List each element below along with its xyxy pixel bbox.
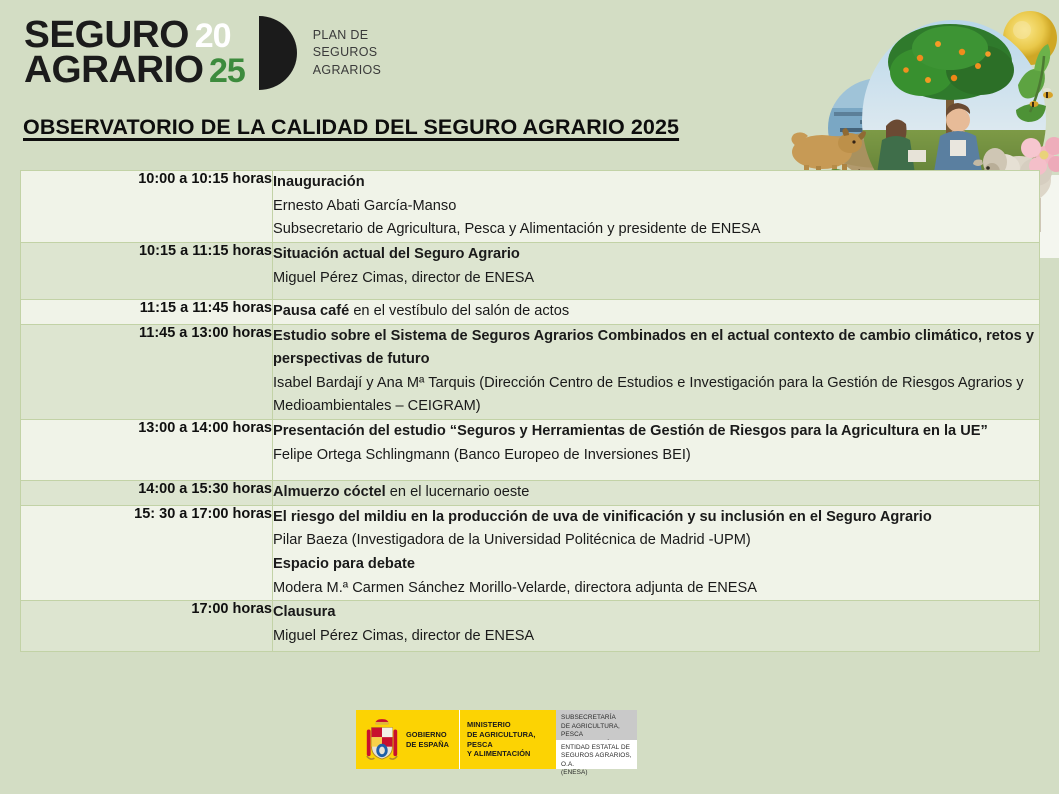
agenda-line-speaker: Miguel Pérez Cimas, director de ENESA [273,267,1039,291]
agenda-time: 13:00 a 14:00 horas [21,420,273,481]
bee-photo [1030,88,1054,107]
agenda-line-speaker: Felipe Ortega Schlingmann (Banco Europeo… [273,444,1039,468]
page-title: OBSERVATORIO DE LA CALIDAD DEL SEGURO AG… [23,115,679,140]
gobierno-line-1: GOBIERNO [406,730,449,740]
enesa-block: SUBSECRETARÍA DE AGRICULTURA, PESCA Y AL… [556,710,637,769]
agenda-line-title: Estudio sobre el Sistema de Seguros Agra… [273,325,1039,372]
agenda-line-speaker: Ernesto Abati García-Manso [273,195,1039,219]
government-footer-logo: GOBIERNO DE ESPAÑA MINISTERIO DE AGRICUL… [356,710,637,769]
table-row: 10:00 a 10:15 horas Inauguración Ernesto… [21,171,1040,243]
brand-line-2: AGRARIO 25 [24,53,245,88]
agenda-line-speaker: Pilar Baeza (Investigadora de la Univers… [273,529,1039,553]
spain-coat-of-arms-icon [363,716,401,764]
ministerio-line-3: Y ALIMENTACIÓN [467,749,556,759]
gobierno-label: GOBIERNO DE ESPAÑA [406,730,449,750]
table-row: 11:15 a 11:45 horas Pausa café en el ves… [21,299,1040,324]
agenda-line-title: El riesgo del mildiu en la producción de… [273,506,1039,530]
agenda-line-title: Situación actual del Seguro Agrario [273,243,1039,267]
agenda-time: 17:00 horas [21,601,273,652]
agenda-line-subtitle: Espacio para debate [273,553,1039,577]
ministerio-block: MINISTERIO DE AGRICULTURA, PESCA Y ALIME… [459,710,556,769]
agenda-line-moderator: Modera M.ª Carmen Sánchez Morillo-Velard… [273,577,1039,601]
brand-year-20: 20 [195,21,231,52]
vine-leaf-photo [1016,44,1050,122]
agenda-time: 11:15 a 11:45 horas [21,299,273,324]
entidad-line-3: (ENESA) [561,769,633,778]
agenda-line-title: Inauguración [273,171,1039,195]
entidad-line-1: ENTIDAD ESTATAL DE [561,744,633,753]
agenda-time: 10:15 a 11:15 horas [21,242,273,299]
agenda-content: Almuerzo cóctel en el lucernario oeste [273,481,1040,506]
agenda-content: El riesgo del mildiu en la producción de… [273,505,1040,601]
agenda-content: Clausura Miguel Pérez Cimas, director de… [273,601,1040,652]
brand-word-seguro: SEGURO [24,18,189,53]
brand-year-25: 25 [209,56,245,87]
subsecretaria-line-2: DE AGRICULTURA, PESCA [561,723,633,740]
brand-plan-text: PLAN DE SEGUROS AGRARIOS [313,27,381,79]
brand-logo: SEGURO 20 AGRARIO 25 PLAN DE SEGUROS AGR… [24,14,381,92]
agenda-table: 10:00 a 10:15 horas Inauguración Ernesto… [20,170,1040,652]
agenda-content: Pausa café en el vestíbulo del salón de … [273,299,1040,324]
gobierno-line-2: DE ESPAÑA [406,740,449,750]
ministerio-line-2: DE AGRICULTURA, PESCA [467,730,556,750]
table-row: 13:00 a 14:00 horas Presentación del est… [21,420,1040,481]
brand-plan-line-1: PLAN DE [313,27,381,44]
subsecretaria-block: SUBSECRETARÍA DE AGRICULTURA, PESCA Y AL… [556,710,637,740]
table-row: 14:00 a 15:30 horas Almuerzo cóctel en e… [21,481,1040,506]
table-row: 11:45 a 13:00 horas Estudio sobre el Sis… [21,324,1040,420]
brand-word-agrario: AGRARIO [24,53,203,88]
entidad-line-2: SEGUROS AGRARIOS, O.A. [561,752,633,769]
agenda-table-body: 10:00 a 10:15 horas Inauguración Ernesto… [21,171,1040,652]
orange-tree-photo [888,24,1014,100]
agenda-content: Inauguración Ernesto Abati García-Manso … [273,171,1040,243]
brand-wordmark: SEGURO 20 AGRARIO 25 [24,18,245,88]
pollen-circle-photo [1003,11,1057,65]
ministerio-line-1: MINISTERIO [467,720,556,730]
agenda-line-speaker: Isabel Bardají y Ana Mª Tarquis (Direcci… [273,372,1039,419]
agenda-line-rest: en el vestíbulo del salón de actos [349,303,569,319]
gobierno-de-espana-block: GOBIERNO DE ESPAÑA [356,710,459,769]
brand-plan-line-3: AGRARIOS [313,62,381,79]
agenda-time: 10:00 a 10:15 horas [21,171,273,243]
table-row: 15: 30 a 17:00 horas El riesgo del mildi… [21,505,1040,601]
agenda-line-title: Pausa café en el vestíbulo del salón de … [273,300,1039,324]
table-row: 17:00 horas Clausura Miguel Pérez Cimas,… [21,601,1040,652]
agenda-line-title: Almuerzo cóctel en el lucernario oeste [273,481,1039,505]
brand-line-1: SEGURO 20 [24,18,245,53]
agenda-line-title: Presentación del estudio “Seguros y Herr… [273,420,1039,444]
agenda-line-speaker: Miguel Pérez Cimas, director de ENESA [273,625,1039,649]
agenda-line-bold-prefix: Pausa café [273,303,349,319]
ministerio-label: MINISTERIO DE AGRICULTURA, PESCA Y ALIME… [467,720,556,760]
table-row: 10:15 a 11:15 horas Situación actual del… [21,242,1040,299]
agenda-time: 15: 30 a 17:00 horas [21,505,273,601]
half-circle-icon [259,16,297,90]
agenda-line-bold-prefix: Almuerzo cóctel [273,484,386,500]
agenda-content: Situación actual del Seguro Agrario Migu… [273,242,1040,299]
agenda-line-role: Subsecretario de Agricultura, Pesca y Al… [273,218,1039,242]
sea-farm-photo [826,78,938,178]
agenda-content: Estudio sobre el Sistema de Seguros Agra… [273,324,1040,420]
agenda-content: Presentación del estudio “Seguros y Herr… [273,420,1040,481]
entidad-block: ENTIDAD ESTATAL DE SEGUROS AGRARIOS, O.A… [556,740,637,770]
subsecretaria-line-1: SUBSECRETARÍA [561,714,633,723]
agenda-line-rest: en el lucernario oeste [386,484,530,500]
brand-plan-line-2: SEGUROS [313,44,381,61]
agenda-time: 11:45 a 13:00 horas [21,324,273,420]
agenda-time: 14:00 a 15:30 horas [21,481,273,506]
agenda-line-title: Clausura [273,601,1039,625]
